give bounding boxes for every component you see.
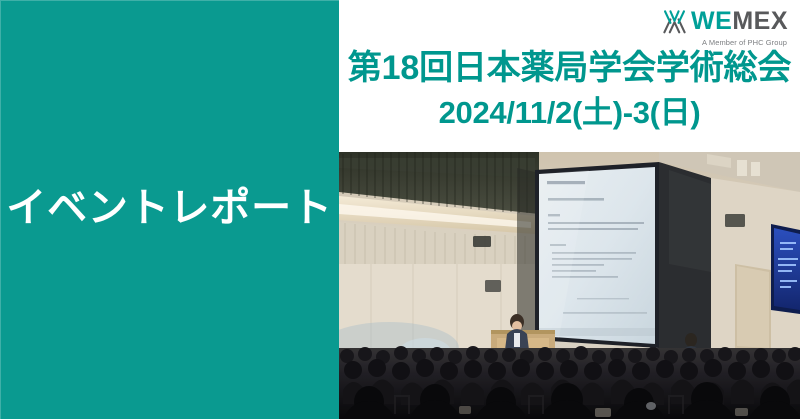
wordmark-mex: MEX <box>732 7 788 35</box>
wemex-logo: WEMEX A Member of PHC Group <box>661 8 788 47</box>
wemex-x-mark-icon <box>661 8 688 35</box>
logo-tagline: A Member of PHC Group <box>702 38 787 47</box>
header-block: WEMEX A Member of PHC Group 第18回日本薬局学会学術… <box>339 0 800 152</box>
event-report-banner: イベントレポート WEME <box>0 0 800 419</box>
conference-hall-photo <box>339 152 800 419</box>
conference-date: 2024/11/2(土)-3(日) <box>339 97 800 130</box>
wordmark-we: WE <box>691 7 732 35</box>
right-content-column: WEMEX A Member of PHC Group 第18回日本薬局学会学術… <box>339 0 800 419</box>
event-report-label: イベントレポート <box>6 186 332 230</box>
logo-row: WEMEX <box>661 8 788 35</box>
left-teal-panel: イベントレポート <box>0 0 339 419</box>
conference-title: 第18回日本薬局学会学術総会 <box>339 51 800 87</box>
wemex-wordmark: WEMEX <box>691 9 788 34</box>
conference-hall-illustration <box>339 152 800 419</box>
